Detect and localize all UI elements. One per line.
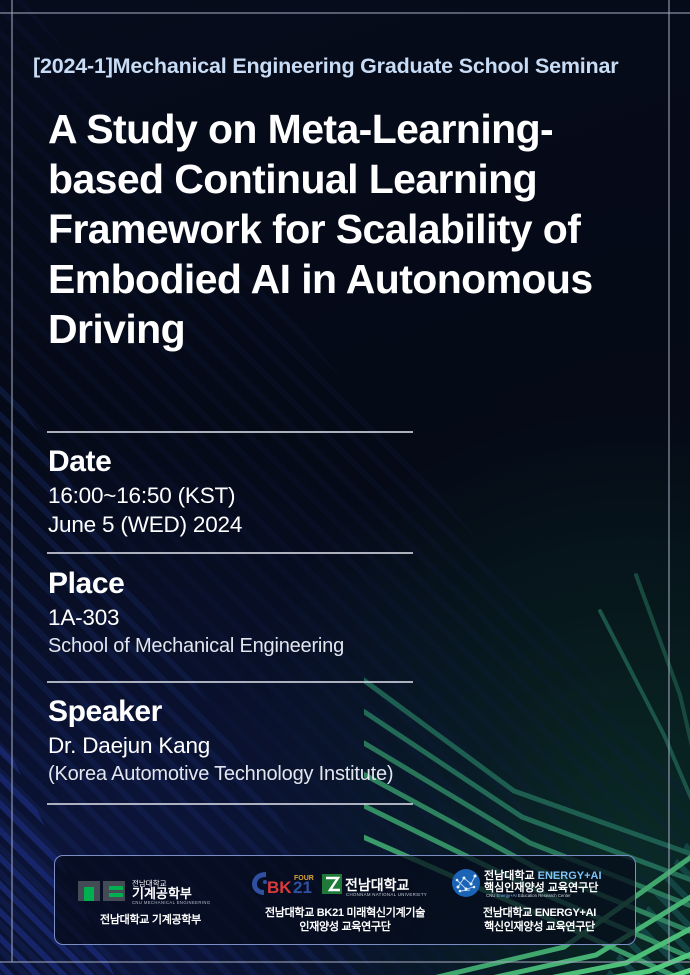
place-heading: Place (48, 565, 344, 603)
sponsor-logo-bar: 전남대학교 기계공학부 CNU MECHANICAL ENGINEERING 전… (54, 855, 636, 945)
speaker-block: Speaker Dr. Daejun Kang (Korea Automotiv… (48, 693, 393, 789)
logo-caption-energy-ai: 전남대학교 ENERGY+AI 핵신인재양성 교육연구단 (483, 906, 596, 934)
seminar-poster: [2024-1]Mechanical Engineering Graduate … (0, 0, 690, 975)
cnu-energy-ai-logo-icon: 전남대학교 ENERGY+AI 핵심인재양성 교육연구단 CNU Energy+… (450, 867, 630, 899)
place-room-value: 1A-303 (48, 603, 344, 632)
seminar-series-label: [2024-1]Mechanical Engineering Graduate … (33, 54, 618, 79)
place-building-value: School of Mechanical Engineering (48, 632, 344, 661)
divider-below-speaker (47, 803, 413, 805)
svg-text:21: 21 (293, 878, 312, 897)
divider-above-place (47, 552, 413, 554)
svg-text:CNU MECHANICAL ENGINEERING: CNU MECHANICAL ENGINEERING (132, 900, 210, 905)
bk21-four-cnu-logo-icon: BK FOUR 21 전남대학교 CHONNAM NATIONAL UNIVER… (250, 867, 440, 899)
date-day-value: June 5 (WED) 2024 (48, 510, 242, 539)
speaker-heading: Speaker (48, 693, 393, 731)
divider-above-speaker (47, 681, 413, 683)
svg-text:기계공학부: 기계공학부 (132, 886, 192, 901)
logo-caption-mechanical-engineering: 전남대학교 기계공학부 (100, 913, 201, 927)
svg-text:BK: BK (267, 878, 292, 897)
logo-cell-energy-ai: 전남대학교 ENERGY+AI 핵심인재양성 교육연구단 CNU Energy+… (444, 867, 635, 934)
svg-text:전남대학교: 전남대학교 (345, 877, 410, 893)
svg-text:CNU Energy+AI Education Resear: CNU Energy+AI Education Research Center (486, 893, 571, 898)
speaker-name-value: Dr. Daejun Kang (48, 731, 393, 760)
date-heading: Date (48, 443, 242, 481)
logo-caption-bk21: 전남대학교 BK21 미래혁신기계기술 인재양성 교육연구단 (265, 906, 425, 934)
svg-text:핵심인재양성 교육연구단: 핵심인재양성 교육연구단 (484, 880, 598, 894)
cnu-mechanical-engineering-logo-icon: 전남대학교 기계공학부 CNU MECHANICAL ENGINEERING (76, 874, 226, 906)
poster-content: [2024-1]Mechanical Engineering Graduate … (0, 0, 690, 975)
place-block: Place 1A-303 School of Mechanical Engine… (48, 565, 344, 661)
svg-text:CHONNAM NATIONAL UNIVERSITY: CHONNAM NATIONAL UNIVERSITY (346, 892, 427, 897)
page-title: A Study on Meta-Learning-based Continual… (48, 104, 648, 354)
svg-text:전남대학교 ENERGY+AI: 전남대학교 ENERGY+AI (484, 868, 602, 882)
divider-above-date (47, 431, 413, 433)
logo-cell-mechanical-engineering: 전남대학교 기계공학부 CNU MECHANICAL ENGINEERING 전… (55, 874, 246, 927)
logo-cell-bk21: BK FOUR 21 전남대학교 CHONNAM NATIONAL UNIVER… (246, 867, 444, 934)
speaker-affiliation-value: (Korea Automotive Technology Institute) (48, 760, 393, 789)
date-block: Date 16:00~16:50 (KST) June 5 (WED) 2024 (48, 443, 242, 539)
date-time-value: 16:00~16:50 (KST) (48, 481, 242, 510)
